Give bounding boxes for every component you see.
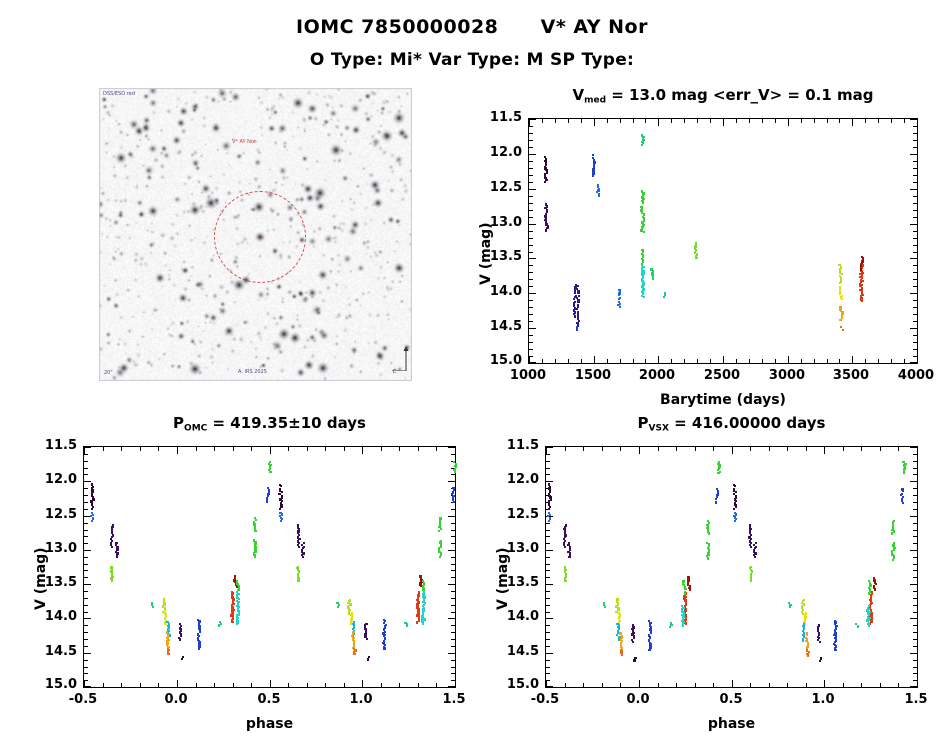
axis-tick bbox=[658, 447, 659, 451]
axis-tick bbox=[546, 598, 550, 599]
data-point bbox=[337, 606, 339, 608]
axis-tick bbox=[910, 516, 917, 517]
axis-tick bbox=[451, 570, 455, 571]
axis-tick bbox=[270, 447, 271, 454]
data-point bbox=[734, 520, 736, 522]
axis-tick bbox=[607, 359, 608, 363]
axis-tick bbox=[736, 119, 737, 123]
axis-tick bbox=[913, 646, 917, 647]
axis-tick bbox=[121, 683, 122, 687]
axis-tick bbox=[196, 447, 197, 451]
axis-tick bbox=[913, 632, 917, 633]
finder-scale-label: 20" bbox=[104, 370, 113, 376]
axis-tick bbox=[546, 680, 550, 681]
axis-tick bbox=[451, 680, 455, 681]
axis-tick bbox=[546, 686, 553, 687]
data-point bbox=[279, 508, 281, 510]
axis-tick bbox=[910, 224, 917, 225]
pomc-sub: OMC bbox=[184, 423, 207, 433]
axis-tick bbox=[84, 550, 91, 551]
axis-tick bbox=[814, 359, 815, 363]
axis-tick bbox=[839, 119, 840, 123]
axis-tick bbox=[787, 447, 788, 451]
axis-tick bbox=[546, 523, 550, 524]
axis-tick bbox=[121, 447, 122, 451]
y-tick-label: 12.5 bbox=[480, 180, 522, 195]
axis-tick bbox=[451, 639, 455, 640]
pvsx-value: = 416.00000 days bbox=[669, 414, 826, 432]
axis-tick bbox=[713, 683, 714, 687]
data-point bbox=[92, 498, 94, 500]
data-point bbox=[652, 278, 654, 280]
axis-tick bbox=[546, 653, 553, 654]
axis-tick bbox=[448, 447, 455, 448]
data-point bbox=[861, 300, 863, 302]
data-point bbox=[750, 546, 752, 548]
vmed-label: V bbox=[572, 86, 584, 104]
axis-tick bbox=[913, 279, 917, 280]
x-tick-label: 3500 bbox=[825, 368, 877, 383]
data-point bbox=[406, 624, 408, 626]
axis-tick bbox=[913, 300, 917, 301]
y-tick-label: 12.0 bbox=[35, 472, 77, 487]
data-point bbox=[598, 195, 600, 197]
axis-tick bbox=[671, 119, 672, 123]
axis-tick bbox=[910, 550, 917, 551]
axis-tick bbox=[695, 683, 696, 687]
data-point bbox=[819, 660, 821, 662]
finder-survey-label: DSS/ESO red bbox=[103, 91, 135, 97]
axis-tick bbox=[546, 447, 547, 454]
axis-tick bbox=[546, 584, 553, 585]
axis-tick bbox=[658, 119, 659, 126]
axis-tick bbox=[861, 447, 862, 451]
axis-tick bbox=[451, 543, 455, 544]
axis-tick bbox=[732, 447, 733, 454]
data-point bbox=[807, 654, 809, 656]
axis-tick bbox=[913, 182, 917, 183]
axis-tick bbox=[529, 126, 533, 127]
axis-tick bbox=[913, 570, 917, 571]
data-point bbox=[695, 257, 697, 259]
axis-tick bbox=[639, 447, 640, 454]
y-tick-label: 13.5 bbox=[35, 575, 77, 590]
axis-tick bbox=[529, 175, 533, 176]
axis-tick bbox=[288, 683, 289, 687]
axis-tick bbox=[529, 279, 533, 280]
axis-tick bbox=[546, 468, 550, 469]
axis-tick bbox=[917, 356, 918, 363]
x-tick-label: 1.0 bbox=[797, 692, 849, 707]
axis-tick bbox=[529, 321, 533, 322]
axis-tick bbox=[84, 447, 85, 454]
axis-tick bbox=[676, 683, 677, 687]
axis-tick bbox=[633, 359, 634, 363]
axis-tick bbox=[546, 570, 550, 571]
axis-tick bbox=[451, 598, 455, 599]
axis-tick bbox=[451, 564, 455, 565]
data-point bbox=[735, 491, 737, 493]
data-point bbox=[689, 589, 691, 591]
axis-tick bbox=[913, 523, 917, 524]
data-point bbox=[91, 508, 93, 510]
axis-tick bbox=[913, 564, 917, 565]
phase-vsx-xaxis-label: phase bbox=[545, 716, 918, 732]
axis-tick bbox=[788, 356, 789, 363]
axis-tick bbox=[913, 673, 917, 674]
axis-tick bbox=[639, 680, 640, 687]
data-point bbox=[715, 502, 717, 504]
axis-tick bbox=[529, 133, 533, 134]
axis-tick bbox=[546, 660, 550, 661]
axis-tick bbox=[645, 119, 646, 123]
axis-tick bbox=[913, 161, 917, 162]
data-point bbox=[111, 580, 113, 582]
axis-tick bbox=[913, 356, 917, 357]
data-point bbox=[682, 624, 684, 626]
axis-tick bbox=[84, 686, 91, 687]
axis-tick bbox=[177, 447, 178, 454]
axis-tick bbox=[620, 447, 621, 451]
axis-tick bbox=[140, 683, 141, 687]
axis-tick bbox=[775, 359, 776, 363]
axis-tick bbox=[84, 667, 88, 668]
axis-tick bbox=[913, 474, 917, 475]
axis-tick bbox=[103, 447, 104, 451]
axis-tick bbox=[546, 481, 553, 482]
axis-tick bbox=[852, 119, 853, 126]
axis-tick bbox=[546, 632, 550, 633]
axis-tick bbox=[891, 359, 892, 363]
x-tick-label: 0.0 bbox=[150, 692, 202, 707]
axis-tick bbox=[529, 119, 536, 120]
iomc-id: IOMC 7850000028 bbox=[296, 16, 498, 38]
axis-tick bbox=[913, 286, 917, 287]
axis-tick bbox=[913, 612, 917, 613]
axis-tick bbox=[529, 210, 533, 211]
axis-tick bbox=[451, 667, 455, 668]
x-tick-label: 1000 bbox=[502, 368, 554, 383]
axis-tick bbox=[84, 523, 88, 524]
data-point bbox=[298, 546, 300, 548]
axis-tick bbox=[568, 119, 569, 123]
axis-tick bbox=[913, 577, 917, 578]
axis-tick bbox=[529, 224, 536, 225]
axis-tick bbox=[762, 119, 763, 123]
axis-tick bbox=[84, 584, 91, 585]
axis-tick bbox=[84, 605, 88, 606]
axis-tick bbox=[529, 356, 533, 357]
axis-tick bbox=[583, 683, 584, 687]
axis-tick bbox=[658, 683, 659, 687]
axis-tick bbox=[913, 468, 917, 469]
axis-tick bbox=[645, 359, 646, 363]
data-point bbox=[302, 556, 304, 558]
axis-tick bbox=[565, 683, 566, 687]
axis-tick bbox=[769, 683, 770, 687]
data-point bbox=[842, 329, 844, 331]
axis-tick bbox=[917, 680, 918, 687]
axis-tick bbox=[381, 447, 382, 451]
axis-tick bbox=[750, 447, 751, 451]
axis-tick bbox=[529, 328, 536, 329]
axis-tick bbox=[913, 536, 917, 537]
axis-tick bbox=[684, 119, 685, 123]
data-point bbox=[802, 640, 804, 642]
axis-tick bbox=[84, 577, 88, 578]
axis-tick bbox=[824, 680, 825, 687]
axis-tick bbox=[620, 359, 621, 363]
axis-tick bbox=[214, 447, 215, 451]
x-tick-label: 1.0 bbox=[335, 692, 387, 707]
y-tick-label: 12.0 bbox=[497, 472, 539, 487]
data-point bbox=[642, 201, 644, 203]
axis-tick bbox=[913, 210, 917, 211]
axis-tick bbox=[529, 147, 533, 148]
data-point bbox=[868, 624, 870, 626]
data-point bbox=[663, 296, 665, 298]
axis-tick bbox=[843, 447, 844, 451]
axis-tick bbox=[913, 591, 917, 592]
finder-credit-label: A. IRS 2025 bbox=[238, 369, 267, 375]
axis-tick bbox=[84, 495, 88, 496]
axis-tick bbox=[529, 300, 533, 301]
axis-tick bbox=[769, 447, 770, 451]
y-tick-label: 14.5 bbox=[497, 644, 539, 659]
axis-tick bbox=[913, 126, 917, 127]
data-point bbox=[621, 654, 623, 656]
y-tick-label: 14.0 bbox=[497, 609, 539, 624]
data-point bbox=[891, 532, 893, 534]
data-point bbox=[366, 638, 368, 640]
axis-tick bbox=[913, 557, 917, 558]
data-point bbox=[439, 556, 441, 558]
axis-tick bbox=[436, 683, 437, 687]
data-point bbox=[789, 606, 791, 608]
data-point bbox=[564, 580, 566, 582]
axis-tick bbox=[880, 683, 881, 687]
data-point bbox=[874, 588, 876, 590]
axis-tick bbox=[762, 359, 763, 363]
data-point bbox=[841, 298, 843, 300]
axis-tick bbox=[529, 182, 533, 183]
data-point bbox=[893, 530, 895, 532]
axis-tick bbox=[451, 632, 455, 633]
x-tick-label: 0.0 bbox=[612, 692, 664, 707]
y-tick-label: 11.5 bbox=[497, 438, 539, 453]
vmed-sub: med bbox=[584, 95, 606, 105]
axis-tick bbox=[788, 119, 789, 126]
axis-tick bbox=[723, 119, 724, 126]
axis-tick bbox=[529, 154, 536, 155]
phase-omc-plot-area bbox=[83, 446, 456, 688]
axis-tick bbox=[84, 536, 88, 537]
axis-tick bbox=[583, 447, 584, 451]
axis-tick bbox=[594, 356, 595, 363]
axis-tick bbox=[602, 447, 603, 451]
y-tick-label: 15.0 bbox=[480, 353, 522, 368]
y-tick-label: 11.5 bbox=[35, 438, 77, 453]
axis-tick bbox=[913, 349, 917, 350]
x-tick-label: 4000 bbox=[890, 368, 942, 383]
axis-tick bbox=[546, 591, 550, 592]
axis-tick bbox=[917, 119, 918, 126]
data-point bbox=[353, 653, 355, 655]
axis-tick bbox=[84, 481, 91, 482]
axis-tick bbox=[546, 605, 550, 606]
data-point bbox=[648, 649, 650, 651]
data-point bbox=[181, 658, 183, 660]
axis-tick bbox=[913, 530, 917, 531]
axis-tick bbox=[529, 252, 533, 253]
axis-tick bbox=[913, 342, 917, 343]
phase-vsx-plot-area bbox=[545, 446, 918, 688]
data-point bbox=[280, 520, 282, 522]
axis-tick bbox=[546, 530, 550, 531]
axis-tick bbox=[913, 461, 917, 462]
y-tick-label: 14.0 bbox=[480, 284, 522, 299]
axis-tick bbox=[233, 683, 234, 687]
data-point bbox=[707, 558, 709, 560]
x-tick-label: 1500 bbox=[567, 368, 619, 383]
axis-tick bbox=[913, 335, 917, 336]
data-point bbox=[568, 556, 570, 558]
axis-tick bbox=[775, 119, 776, 123]
data-point bbox=[416, 621, 418, 623]
axis-tick bbox=[158, 683, 159, 687]
data-point bbox=[708, 532, 710, 534]
y-tick-label: 13.5 bbox=[480, 249, 522, 264]
axis-tick bbox=[913, 314, 917, 315]
data-point bbox=[669, 626, 671, 628]
axis-tick bbox=[913, 217, 917, 218]
y-tick-label: 14.0 bbox=[35, 609, 77, 624]
axis-tick bbox=[529, 349, 533, 350]
axis-tick bbox=[546, 454, 550, 455]
target-aperture-circle bbox=[214, 191, 306, 283]
axis-tick bbox=[913, 321, 917, 322]
axis-tick bbox=[546, 474, 550, 475]
axis-tick bbox=[177, 680, 178, 687]
axis-tick bbox=[529, 272, 533, 273]
lightcurve-plot-area bbox=[528, 118, 918, 364]
data-point bbox=[199, 631, 201, 633]
data-point bbox=[857, 626, 859, 628]
axis-tick bbox=[913, 488, 917, 489]
data-point bbox=[548, 508, 550, 510]
data-point bbox=[164, 609, 166, 611]
axis-tick bbox=[910, 584, 917, 585]
data-point bbox=[236, 622, 238, 624]
axis-tick bbox=[749, 359, 750, 363]
axis-tick bbox=[904, 119, 905, 123]
axis-tick bbox=[451, 523, 455, 524]
axis-tick bbox=[84, 660, 88, 661]
axis-tick bbox=[546, 667, 550, 668]
axis-tick bbox=[913, 272, 917, 273]
axis-tick bbox=[344, 447, 345, 451]
axis-tick bbox=[84, 639, 88, 640]
axis-tick bbox=[542, 119, 543, 123]
star-name: V* AY Nor bbox=[541, 16, 648, 38]
axis-tick bbox=[529, 161, 533, 162]
axis-tick bbox=[913, 196, 917, 197]
axis-tick bbox=[910, 293, 917, 294]
data-point bbox=[650, 632, 652, 634]
axis-tick bbox=[140, 447, 141, 451]
axis-tick bbox=[84, 570, 88, 571]
axis-tick bbox=[898, 447, 899, 451]
axis-tick bbox=[529, 362, 536, 363]
data-point bbox=[254, 555, 256, 557]
axis-tick bbox=[581, 359, 582, 363]
axis-tick bbox=[529, 245, 533, 246]
axis-tick bbox=[84, 488, 88, 489]
axis-tick bbox=[633, 119, 634, 123]
data-point bbox=[91, 520, 93, 522]
data-point bbox=[281, 491, 283, 493]
axis-tick bbox=[529, 231, 533, 232]
axis-tick bbox=[84, 447, 91, 448]
data-point bbox=[754, 556, 756, 558]
axis-tick bbox=[288, 447, 289, 451]
data-point bbox=[438, 530, 440, 532]
axis-tick bbox=[529, 217, 533, 218]
axis-tick bbox=[103, 683, 104, 687]
axis-tick bbox=[529, 189, 536, 190]
axis-tick bbox=[827, 359, 828, 363]
axis-tick bbox=[913, 265, 917, 266]
data-point bbox=[198, 648, 200, 650]
axis-tick bbox=[913, 245, 917, 246]
x-tick-label: 0.5 bbox=[243, 692, 295, 707]
axis-tick bbox=[418, 447, 419, 451]
axis-tick bbox=[546, 447, 553, 448]
axis-tick bbox=[451, 646, 455, 647]
axis-tick bbox=[451, 454, 455, 455]
axis-tick bbox=[723, 356, 724, 363]
axis-tick bbox=[581, 119, 582, 123]
data-point bbox=[619, 306, 621, 308]
axis-tick bbox=[913, 175, 917, 176]
axis-tick bbox=[546, 557, 550, 558]
data-point bbox=[633, 659, 635, 661]
y-tick-label: 15.0 bbox=[35, 677, 77, 692]
axis-tick bbox=[843, 683, 844, 687]
axis-tick bbox=[913, 502, 917, 503]
axis-tick bbox=[913, 605, 917, 606]
axis-tick bbox=[913, 509, 917, 510]
x-tick-label: 1.5 bbox=[890, 692, 942, 707]
axis-tick bbox=[251, 447, 252, 451]
axis-tick bbox=[546, 550, 553, 551]
data-point bbox=[440, 528, 442, 530]
axis-tick bbox=[418, 683, 419, 687]
axis-tick bbox=[84, 468, 88, 469]
axis-tick bbox=[158, 447, 159, 451]
phase-vsx-title: PVSX = 416.00000 days bbox=[545, 414, 918, 433]
axis-tick bbox=[878, 119, 879, 123]
axis-tick bbox=[546, 536, 550, 537]
y-tick-label: 14.5 bbox=[480, 319, 522, 334]
axis-tick bbox=[399, 447, 400, 451]
axis-tick bbox=[455, 447, 456, 454]
axis-tick bbox=[913, 639, 917, 640]
data-point bbox=[840, 326, 842, 328]
axis-tick bbox=[529, 335, 533, 336]
axis-tick bbox=[325, 683, 326, 687]
axis-tick bbox=[251, 683, 252, 687]
